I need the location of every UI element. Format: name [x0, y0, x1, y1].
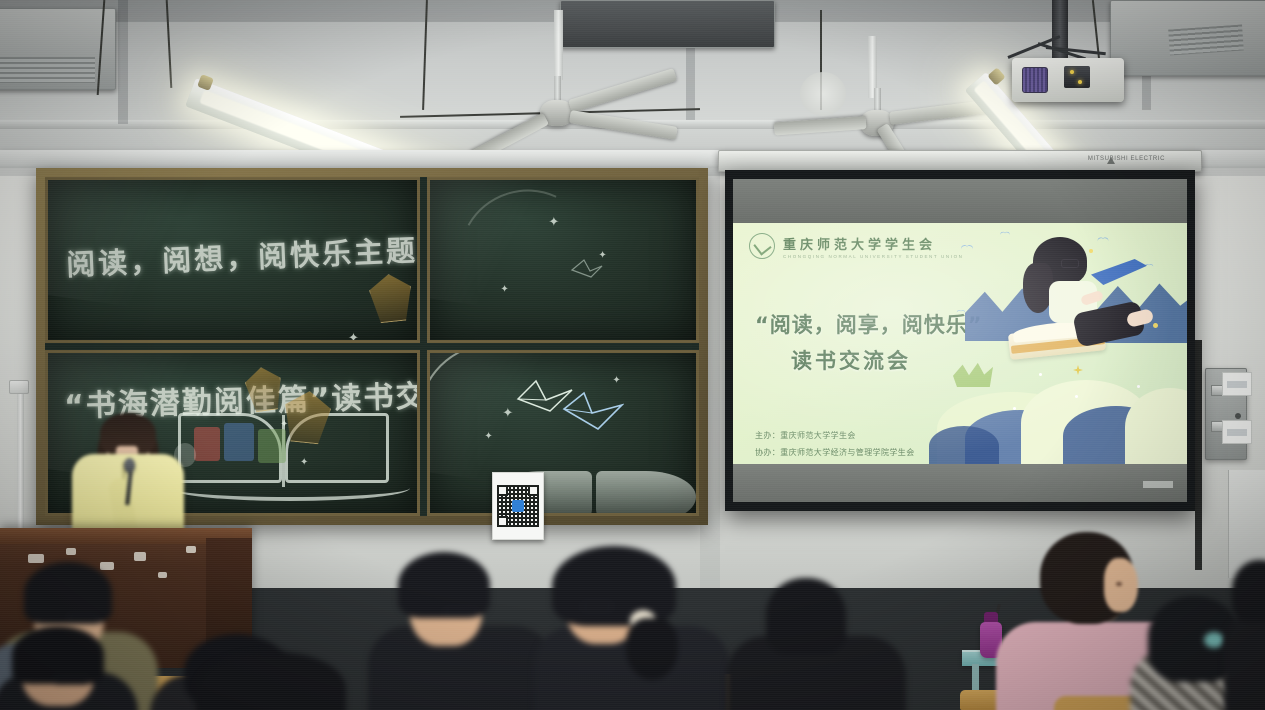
audience-person-right-edge [1224, 560, 1265, 710]
presenter-at-podium [72, 418, 184, 540]
slide-org-name-cn: 重庆师范大学学生会 [783, 234, 964, 253]
wall-light-switch[interactable] [9, 380, 29, 394]
origami-crane-chalk-drawing-2 [562, 391, 624, 431]
ceiling-vent-top-right [560, 0, 775, 48]
housing-brand-label: MITSUBISHI ELECTRIC [1088, 156, 1165, 162]
slide-host-line: 主办：重庆师范大学学生会 [755, 430, 915, 441]
wall-conduit [17, 394, 24, 549]
classroom-photo-scene: 阅读，阅想，阅快乐主题系列活动 ✦ ✦ ✦ ✦ “书海 [0, 0, 1265, 710]
presentation-slide: 重庆师范大学学生会 CHONGQING NORMAL UNIVERSITY ST… [733, 223, 1187, 466]
microphone [124, 458, 135, 473]
projector [1012, 58, 1124, 102]
door-frame-edge [1195, 340, 1202, 570]
screen-control-strip [1143, 481, 1173, 488]
blackboard-panel-top-right: ✦ ✦ ✦ [427, 177, 699, 343]
letterbox-bottom [733, 464, 1187, 502]
slide-meta: 主办：重庆师范大学学生会 协办：重庆师范大学经济与管理学院学生会 2023年11… [755, 430, 915, 466]
ceiling [0, 0, 1265, 172]
audience-person-dark-right [736, 578, 896, 710]
wall-notice-2 [1222, 420, 1252, 444]
projection-screen: 重庆师范大学学生会 CHONGQING NORMAL UNIVERSITY ST… [725, 170, 1195, 511]
slide-logo-row: 重庆师范大学学生会 CHONGQING NORMAL UNIVERSITY ST… [749, 233, 964, 259]
audience-woman-front-left [0, 636, 130, 710]
blackboard-panel-top-left: 阅读，阅想，阅快乐主题系列活动 ✦ [45, 177, 420, 343]
audience-woman-ponytail-center [540, 556, 722, 710]
slide-cohost-line: 协办：重庆师范大学经济与管理学院学生会 [755, 447, 915, 458]
lantern-chalk-drawing [368, 272, 415, 324]
blackboard-panel-bottom-right: ✦ ✦ ✦ [427, 350, 699, 517]
blackboard-top-text: 阅读，阅想，阅快乐主题系列活动 [65, 222, 420, 284]
audience-head-foreground [196, 652, 346, 710]
audience-woman-glasses-center [382, 560, 542, 710]
university-logo-icon [749, 233, 775, 259]
slide-org-name-en: CHONGQING NORMAL UNIVERSITY STUDENT UNIO… [783, 254, 964, 259]
wall-notice-1 [1222, 372, 1252, 396]
qr-code [497, 485, 539, 527]
letterbox-top [733, 179, 1187, 225]
projector-lens [1022, 67, 1048, 93]
qr-code-poster[interactable] [492, 472, 544, 540]
projector-screen-housing: MITSUBISHI ELECTRIC [718, 150, 1202, 172]
slide-illustration [947, 223, 1187, 466]
air-conditioner-right [1110, 0, 1265, 76]
